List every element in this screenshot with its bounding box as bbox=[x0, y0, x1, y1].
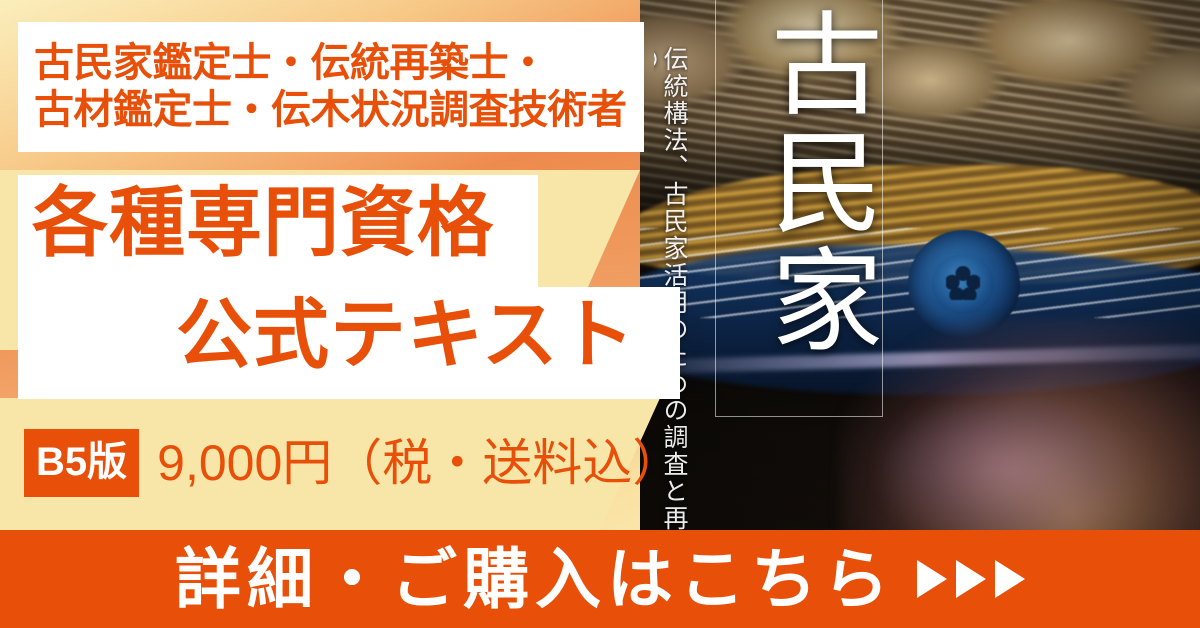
book-cover-image: 伝統構法、古民家活用のための調査と再生の 古民家 bbox=[640, 0, 1200, 560]
cta-label: 詳細・ご購入はこちら bbox=[175, 546, 895, 612]
headline-panel: 古民家鑑定士・伝統再築士・ 古材鑑定士・伝木状況調査技術者 bbox=[18, 22, 644, 152]
cta-bar[interactable]: 詳細・ご購入はこちら bbox=[0, 530, 1200, 628]
format-badge: B5版 bbox=[24, 429, 139, 497]
headline-group: 古民家鑑定士・伝統再築士・ 古材鑑定士・伝木状況調査技術者 bbox=[18, 22, 644, 152]
price-amount: 9,000円（税・送料込） bbox=[157, 438, 682, 488]
cta-arrow-group bbox=[917, 560, 1025, 598]
triangle-right-icon bbox=[917, 560, 947, 598]
main-heading-line-1: 各種専門資格 bbox=[32, 186, 552, 262]
cover-title: 古民家 bbox=[718, 6, 878, 436]
headline-line-1: 古民家鑑定士・伝統再築士・ bbox=[34, 40, 644, 87]
triangle-right-icon bbox=[956, 560, 986, 598]
headline-line-2: 古材鑑定士・伝木状況調査技術者 bbox=[34, 87, 644, 134]
price-row: B5版 9,000円（税・送料込） bbox=[24, 428, 682, 498]
promo-banner: 伝統構法、古民家活用のための調査と再生の 古民家 古民家鑑定士・伝統再築士・ 古… bbox=[0, 0, 1200, 628]
main-heading-line-2: 公式テキスト bbox=[176, 298, 696, 374]
triangle-right-icon bbox=[995, 560, 1025, 598]
